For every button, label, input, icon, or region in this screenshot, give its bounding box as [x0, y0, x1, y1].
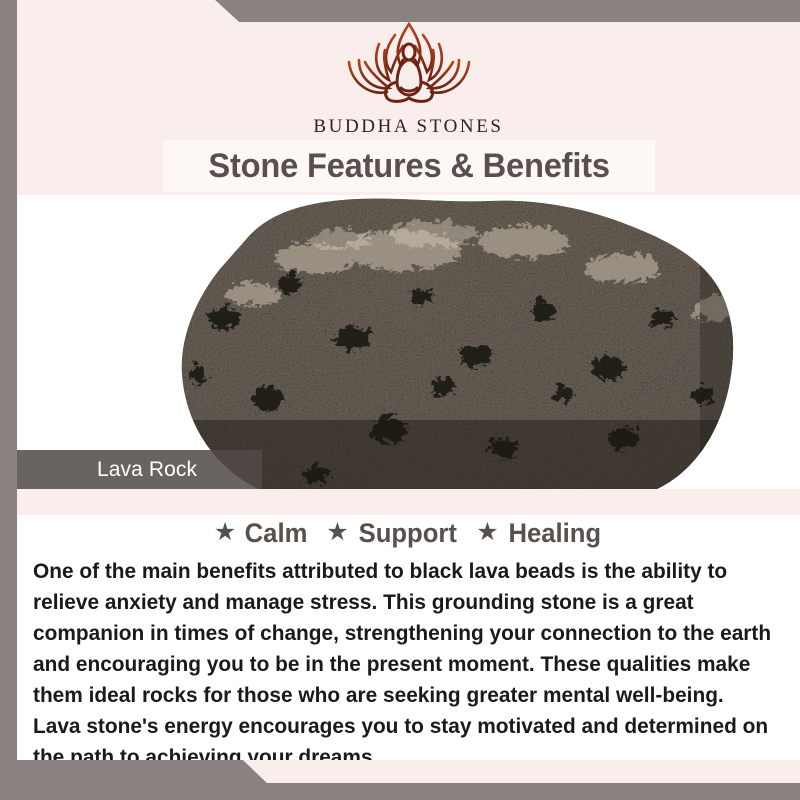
title-banner: Stone Features & Benefits: [163, 140, 655, 192]
cream-divider-strip: [17, 489, 800, 515]
lava-rock-photo: [100, 195, 770, 489]
photo-caption: Lava Rock: [97, 458, 197, 482]
infographic-canvas: BUDDHA STONES Stone Features & Benefits: [0, 0, 800, 800]
photo-area: [17, 195, 800, 489]
keyword-support: ★ Support: [326, 518, 459, 549]
star-icon: ★: [214, 520, 236, 545]
inner-panel: BUDDHA STONES Stone Features & Benefits: [17, 0, 800, 783]
brand-name: BUDDHA STONES: [17, 116, 800, 138]
keyword-row: ★ Calm ★ Support ★ Healing: [17, 518, 800, 549]
keyword-label: Support: [358, 518, 456, 549]
keyword-label: Healing: [508, 518, 601, 549]
star-icon: ★: [476, 520, 498, 545]
body-paragraph: One of the main benefits attributed to b…: [33, 556, 772, 773]
star-icon: ★: [326, 520, 348, 545]
photo-caption-bar: Lava Rock: [17, 450, 262, 490]
keyword-label: Calm: [245, 518, 308, 549]
brand-logo: BUDDHA STONES: [17, 18, 800, 138]
page-title: Stone Features & Benefits: [208, 147, 609, 186]
lotus-meditation-icon: [329, 18, 489, 114]
cream-footer-strip: [17, 760, 800, 783]
keyword-calm: ★ Calm: [214, 518, 309, 549]
keyword-healing: ★ Healing: [476, 518, 603, 549]
